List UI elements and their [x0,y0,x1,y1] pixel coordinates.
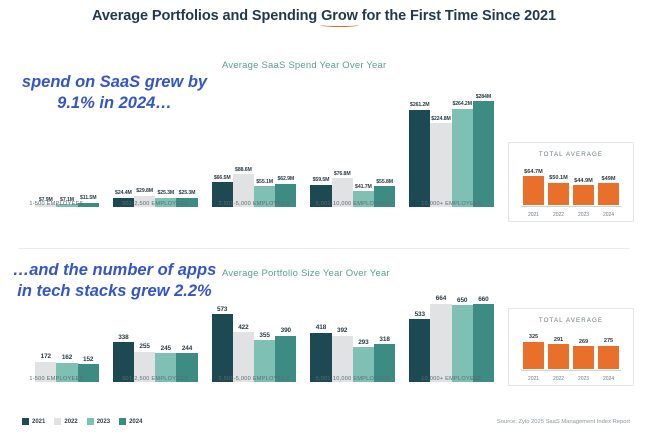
title-highlight: Grow [321,8,358,24]
bar-item: 533 [409,288,430,382]
bar-group: 338255245244501-2,500 EMPLOYEES [113,288,198,382]
card-bar-item: 325 [521,333,546,369]
bar-item: 418 [310,288,331,382]
card-bar-value-label: $50.1M [549,175,568,181]
bar-value-label: 162 [62,354,72,361]
bar-2022 [430,123,451,207]
category-label: 2,501-5,000 EMPLOYEES [212,376,297,382]
legend-item-2024: 2024 [119,418,142,425]
bar-item: $62.9M [275,80,296,207]
bar-item: $25.3M [155,80,176,207]
card-bar-2022 [548,344,569,369]
legend-label: 2023 [97,419,110,425]
card-bar-value-label: $44.9M [574,178,593,184]
section-portfolio-size: Average Portfolio Size Year Over Year …a… [0,258,648,408]
bar-item: 664 [430,288,451,382]
bar-item: $76.8M [332,80,353,207]
bar-value-label: 293 [358,339,368,346]
legend-label: 2022 [64,419,77,425]
bar-item: $55.1M [254,80,275,207]
bar-value-label: $41.7M [355,184,372,190]
card-axis-line [521,206,621,207]
card-year-label: 2024 [596,376,621,382]
card-bar-2021 [523,176,544,205]
bar-item: $264.2M [452,80,473,207]
chart-portfolio-size: 1721621521-500 EMPLOYEES338255245244501-… [14,288,494,398]
bar-group: $24.4M$29.8M$25.3M$25.3M501-2,500 EMPLOY… [113,80,198,207]
category-label: 2,501-5,000 EMPLOYEES [212,201,297,207]
section-title-portfolio: Average Portfolio Size Year Over Year [222,268,390,279]
bar-group-bars: $59.5M$76.8M$41.7M$55.8M [310,80,395,207]
bar-item: 162 [56,288,77,382]
card-year-label: 2021 [521,212,546,218]
title-before: Average Portfolios and Spending [92,8,321,24]
bar-2023 [452,305,473,382]
legend-item-2021: 2021 [22,418,45,425]
bar-value-label: $59.5M [313,177,330,183]
bar-group-bars: 338255245244 [113,288,198,382]
bar-item: $7.9M [35,80,56,207]
bar-item [14,80,35,207]
bar-value-label: 660 [478,296,488,303]
bar-value-label: 390 [281,327,291,334]
bar-group: 1721621521-500 EMPLOYEES [14,288,99,382]
bar-2023 [452,109,473,207]
bar-item: 422 [233,288,254,382]
bar-item: $66.5M [212,80,233,207]
bar-value-label: 255 [139,343,149,350]
bar-2024 [473,304,494,382]
bar-item [14,288,35,382]
legend-swatch-icon [87,418,94,425]
bar-2024 [473,101,494,207]
bar-item: 650 [452,288,473,382]
bar-item: 245 [155,288,176,382]
bar-item: $55.8M [374,80,395,207]
bar-value-label: $264.2M [452,101,472,107]
bar-value-label: 664 [436,295,446,302]
source-note: Source: Zylo 2025 SaaS Management Index … [497,419,630,425]
bar-item: $261.2M [409,80,430,207]
bar-item: $7.1M [56,80,77,207]
card-bar-2024 [598,183,619,205]
chart-saas-spend: $7.9M$7.1M$11.5M1-500 EMPLOYEES$24.4M$29… [14,80,494,223]
bar-item: $88.6M [233,80,254,207]
card-bar-item: 269 [571,333,596,369]
bar-item: 660 [473,288,494,382]
bar-value-label: $25.3M [179,190,196,196]
bar-group: $7.9M$7.1M$11.5M1-500 EMPLOYEES [14,80,99,207]
category-label: 1-500 EMPLOYEES [14,201,99,207]
card-bar-item: $64.7M [521,167,546,205]
card-bar-item: 275 [596,333,621,369]
card-bar-value-label: 269 [579,339,588,345]
card-bar-value-label: 291 [554,337,563,343]
card-year-label: 2022 [546,376,571,382]
legend-item-2022: 2022 [54,418,77,425]
category-label: 501-2,500 EMPLOYEES [113,201,198,207]
bar-value-label: $224.8M [431,116,451,122]
card-bar-value-label: 275 [604,338,613,344]
card-year-label: 2021 [521,376,546,382]
card-bar-value-label: $64.7M [524,169,543,175]
total-average-card-portfolio: TOTAL AVERAGE 325291269275 2021202220232… [508,308,634,386]
bar-value-label: $25.3M [157,190,174,196]
section-divider [18,248,630,249]
card-bar-item: $49M [596,167,621,205]
bar-group-bars: 418392293318 [310,288,395,382]
bar-item: $24.4M [113,80,134,207]
card-bar-item: $50.1M [546,167,571,205]
card-bar-value-label: $49M [602,176,616,182]
legend: 2021202220232024 [22,418,142,425]
bar-item: 152 [78,288,99,382]
bar-group-bars: 573422355390 [212,288,297,382]
infographic-page: Average Portfolios and Spending Grow for… [0,0,648,437]
card-bar-item: 291 [546,333,571,369]
section-title-spend: Average SaaS Spend Year Over Year [222,60,386,71]
bar-value-label: $55.1M [256,179,273,185]
bar-group: 4183922933185,001-10,000 EMPLOYEES [310,288,395,382]
card-title-portfolio: TOTAL AVERAGE [509,317,633,324]
bar-value-label: 245 [161,345,171,352]
bar-item: 390 [275,288,296,382]
bar-2022 [233,332,254,382]
card-year-label: 2023 [571,376,596,382]
category-label: 1-500 EMPLOYEES [14,376,99,382]
bar-2021 [409,110,430,207]
bar-item: 392 [332,288,353,382]
bar-value-label: 338 [118,334,128,341]
bar-group: $66.5M$88.6M$55.1M$62.9M2,501-5,000 EMPL… [212,80,297,207]
bar-item: 172 [35,288,56,382]
bar-item: 355 [254,288,275,382]
bar-item: $41.7M [353,80,374,207]
bar-value-label: 533 [415,311,425,318]
bar-item: 255 [134,288,155,382]
bar-item: $59.5M [310,80,331,207]
legend-item-2023: 2023 [87,418,110,425]
bar-item: $29.8M [134,80,155,207]
legend-swatch-icon [119,418,126,425]
bar-2021 [409,319,430,382]
bar-value-label: 650 [457,297,467,304]
bar-value-label: $66.5M [214,175,231,181]
bar-item: 338 [113,288,134,382]
title-after: for the First Time Since 2021 [358,8,556,24]
bar-value-label: 573 [217,306,227,313]
bar-2021 [212,314,233,382]
bar-value-label: 355 [259,332,269,339]
bar-2021 [310,333,331,382]
bar-value-label: $29.8M [136,188,153,194]
category-label: 5,001-10,000 EMPLOYEES [310,201,395,207]
card-year-label: 2023 [571,212,596,218]
section-saas-spend: Average SaaS Spend Year Over Year spend … [0,50,648,245]
bar-group-bars: $24.4M$29.8M$25.3M$25.3M [113,80,198,207]
card-bar-2024 [598,346,619,369]
card-axis-line [521,370,621,371]
bar-group-bars: 533664650660 [409,288,494,382]
card-title-spend: TOTAL AVERAGE [509,151,633,158]
bar-value-label: $88.6M [235,167,252,173]
bar-item: 244 [176,288,197,382]
card-bar-2023 [573,185,594,205]
bar-group-bars: $7.9M$7.1M$11.5M [14,80,99,207]
bar-item: 293 [353,288,374,382]
bar-value-label: 392 [337,327,347,334]
bar-value-label: 172 [41,353,51,360]
bar-value-label: 422 [238,324,248,331]
page-title: Average Portfolios and Spending Grow for… [0,8,648,24]
bar-value-label: 418 [316,324,326,331]
card-bar-2021 [523,342,544,369]
bar-value-label: $62.9M [277,176,294,182]
bar-value-label: 318 [379,336,389,343]
bar-item: $11.5M [78,80,99,207]
bar-value-label: 152 [83,356,93,363]
bar-item: 573 [212,288,233,382]
bar-item: 318 [374,288,395,382]
category-label: 501-2,500 EMPLOYEES [113,376,198,382]
bar-item: $284M [473,80,494,207]
bar-value-label: $76.8M [334,171,351,177]
bar-item: $224.8M [430,80,451,207]
legend-swatch-icon [54,418,61,425]
category-label: 10,000+ EMPLOYEES [409,376,494,382]
bar-value-label: $261.2M [410,102,430,108]
bar-group-bars: $261.2M$224.8M$264.2M$284M [409,80,494,207]
bar-2022 [430,304,451,382]
bar-group: $59.5M$76.8M$41.7M$55.8M5,001-10,000 EMP… [310,80,395,207]
bar-group-bars: 172162152 [14,288,99,382]
category-label: 5,001-10,000 EMPLOYEES [310,376,395,382]
bar-value-label: $55.8M [376,179,393,185]
bar-group: $261.2M$224.8M$264.2M$284M10,000+ EMPLOY… [409,80,494,207]
category-label: 10,000+ EMPLOYEES [409,201,494,207]
card-bar-2023 [573,346,594,369]
legend-swatch-icon [22,418,29,425]
card-year-label: 2022 [546,212,571,218]
legend-label: 2024 [129,419,142,425]
bar-value-label: $284M [476,94,491,100]
card-bar-value-label: 325 [529,334,538,340]
legend-label: 2021 [32,419,45,425]
bar-value-label: $24.4M [115,190,132,196]
bar-group-bars: $66.5M$88.6M$55.1M$62.9M [212,80,297,207]
bar-value-label: 244 [182,345,192,352]
card-bar-item: $44.9M [571,167,596,205]
total-average-card-spend: TOTAL AVERAGE $64.7M$50.1M$44.9M$49M 202… [508,142,634,222]
bar-item: $25.3M [176,80,197,207]
card-bar-2022 [548,183,569,205]
bar-group: 53366465066010,000+ EMPLOYEES [409,288,494,382]
bar-group: 5734223553902,501-5,000 EMPLOYEES [212,288,297,382]
card-year-label: 2024 [596,212,621,218]
